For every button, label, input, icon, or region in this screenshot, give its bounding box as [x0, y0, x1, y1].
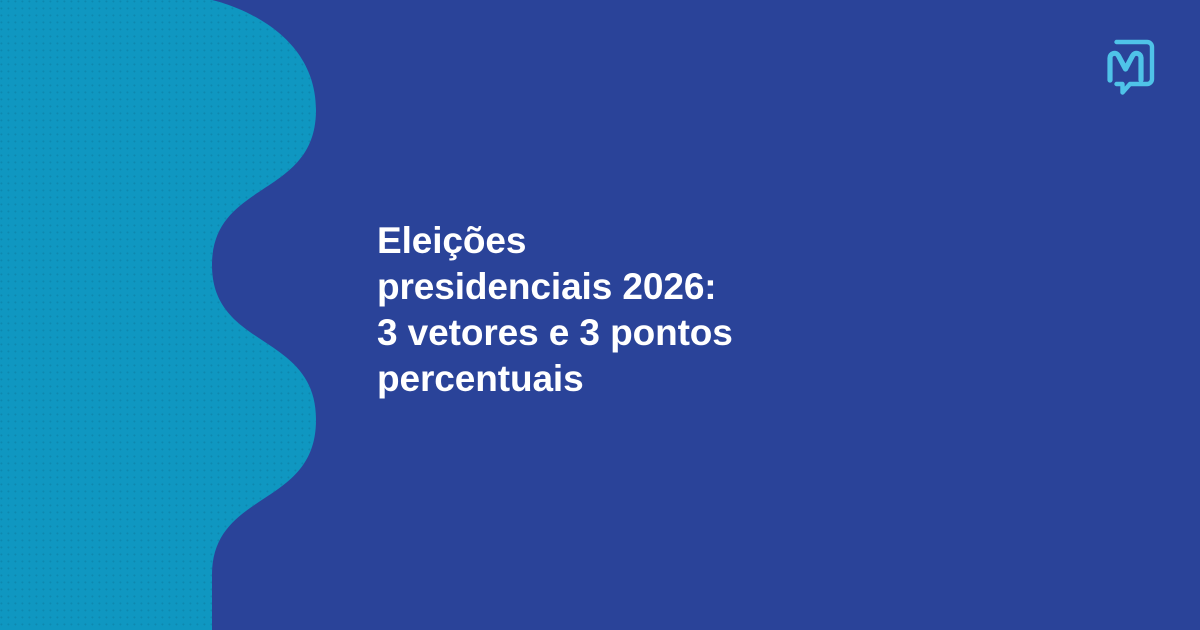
page-title: Eleições presidenciais 2026: 3 vetores e…	[377, 218, 847, 402]
wavy-teal-panel	[0, 0, 330, 630]
brand-logo[interactable]	[1100, 36, 1158, 98]
speech-bubble-m-icon	[1100, 36, 1158, 98]
title-block: Eleições presidenciais 2026: 3 vetores e…	[377, 218, 847, 402]
wave-dot-texture	[0, 0, 330, 630]
social-share-card: Eleições presidenciais 2026: 3 vetores e…	[0, 0, 1200, 630]
